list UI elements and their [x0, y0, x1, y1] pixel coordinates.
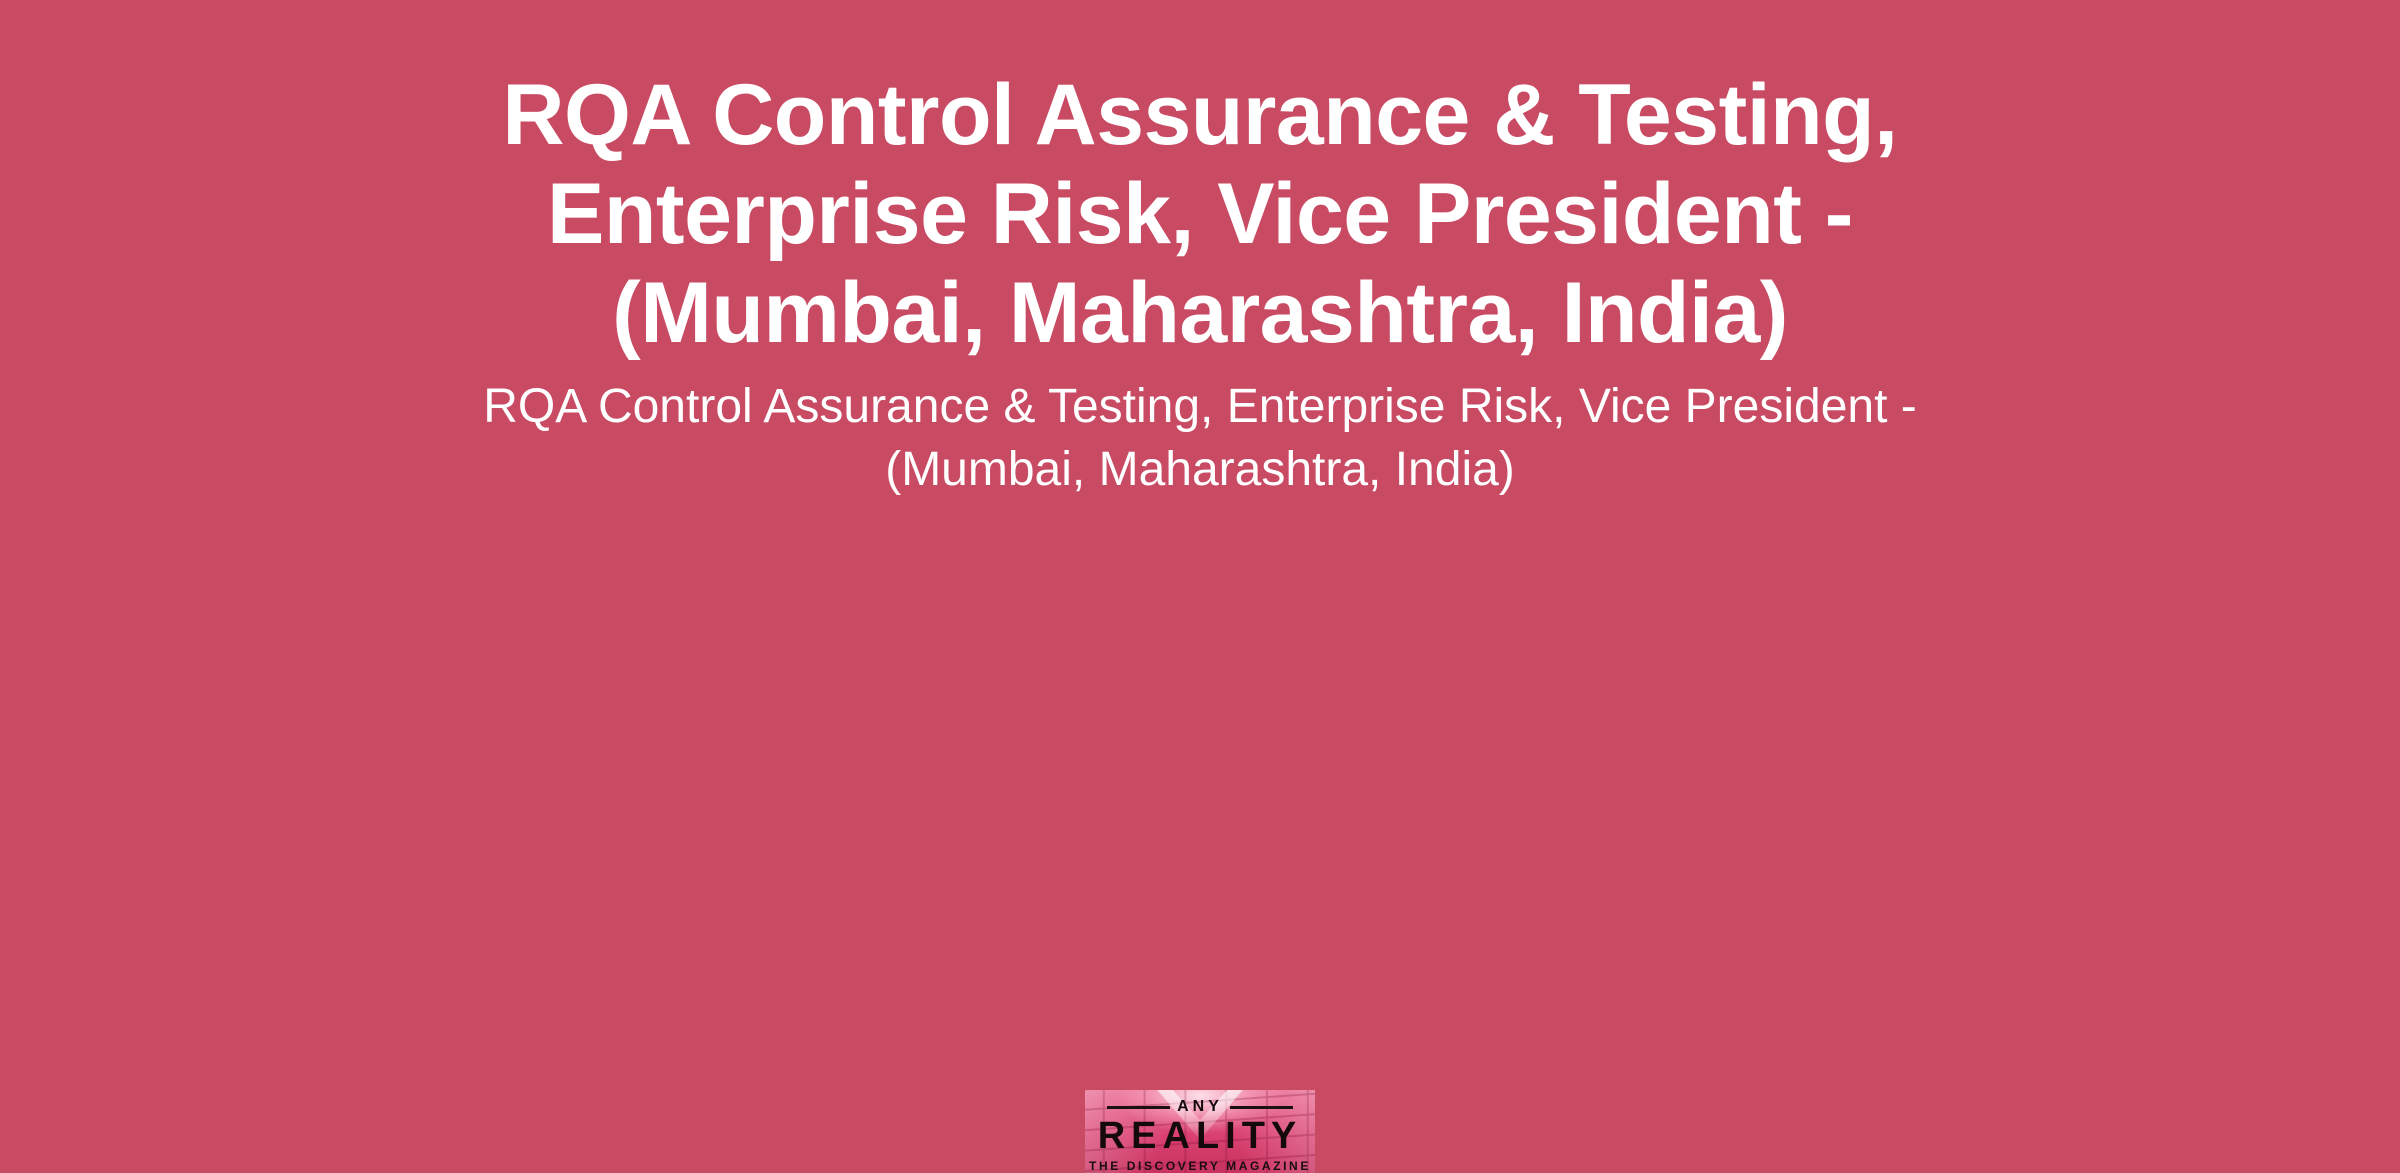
brand-logo[interactable]: ANY REALITY THE DISCOVERY MAGAZINE	[1085, 1090, 1315, 1173]
logo-content: ANY REALITY THE DISCOVERY MAGAZINE	[1085, 1090, 1315, 1173]
logo-word-reality: REALITY	[1098, 1117, 1303, 1157]
logo-tagline: THE DISCOVERY MAGAZINE	[1089, 1160, 1311, 1172]
logo-rule-right-icon	[1230, 1106, 1293, 1109]
logo-any-row: ANY	[1107, 1099, 1293, 1115]
logo-rule-left-icon	[1107, 1106, 1170, 1109]
page-subtitle: RQA Control Assurance & Testing, Enterpr…	[390, 375, 2010, 501]
page-title: RQA Control Assurance & Testing, Enterpr…	[420, 66, 1980, 363]
poster-canvas: RQA Control Assurance & Testing, Enterpr…	[0, 0, 2400, 1173]
article-text-block: RQA Control Assurance & Testing, Enterpr…	[0, 0, 2400, 501]
any-reality-logo: ANY REALITY THE DISCOVERY MAGAZINE	[1085, 1090, 1315, 1173]
logo-word-any: ANY	[1177, 1099, 1223, 1115]
